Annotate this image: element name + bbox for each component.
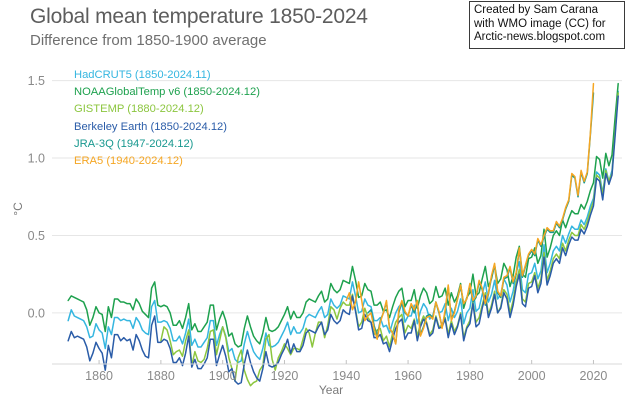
- plot-area: 186018801900192019401960198020002020 0.0…: [0, 0, 627, 412]
- x-axis-tick-label: 1860: [85, 369, 113, 383]
- legend-entry-hadcrut5: HadCRUT5 (1850-2024.11): [74, 67, 260, 84]
- x-axis-tick-label: 1960: [394, 369, 422, 383]
- x-axis-tick-label: 1940: [332, 369, 360, 383]
- chart-figure: Global mean temperature 1850-2024 Differ…: [0, 0, 627, 412]
- legend-entry-jra-3q: JRA-3Q (1947-2024.12): [74, 136, 260, 153]
- y-axis-tick-label: 1.5: [28, 74, 45, 88]
- x-axis: 186018801900192019401960198020002020: [52, 360, 622, 383]
- y-axis-title: °C: [11, 202, 25, 216]
- legend-entry-era5: ERA5 (1940-2024.12): [74, 153, 260, 170]
- x-axis-title: Year: [319, 383, 343, 397]
- y-axis-tick-label: 0.5: [28, 229, 45, 243]
- legend-entry-noaaglobaltemp-v6: NOAAGlobalTemp v6 (1850-2024.12): [74, 84, 260, 101]
- x-axis-tick-label: 1980: [456, 369, 484, 383]
- x-axis-tick-label: 1900: [209, 369, 237, 383]
- x-axis-tick-label: 2000: [518, 369, 546, 383]
- y-axis-tick-label: 0.0: [28, 306, 45, 320]
- legend-entry-gistemp: GISTEMP (1880-2024.12): [74, 101, 260, 118]
- y-axis-tick-label: 1.0: [28, 152, 45, 166]
- legend-entry-berkeley-earth: Berkeley Earth (1850-2024.12): [74, 119, 260, 136]
- x-axis-tick-label: 1880: [147, 369, 175, 383]
- x-axis-tick-label: 1920: [271, 369, 299, 383]
- x-axis-tick-label: 2020: [580, 369, 608, 383]
- y-axis: 0.00.51.01.5: [28, 74, 45, 320]
- chart-legend: HadCRUT5 (1850-2024.11)NOAAGlobalTemp v6…: [74, 67, 260, 170]
